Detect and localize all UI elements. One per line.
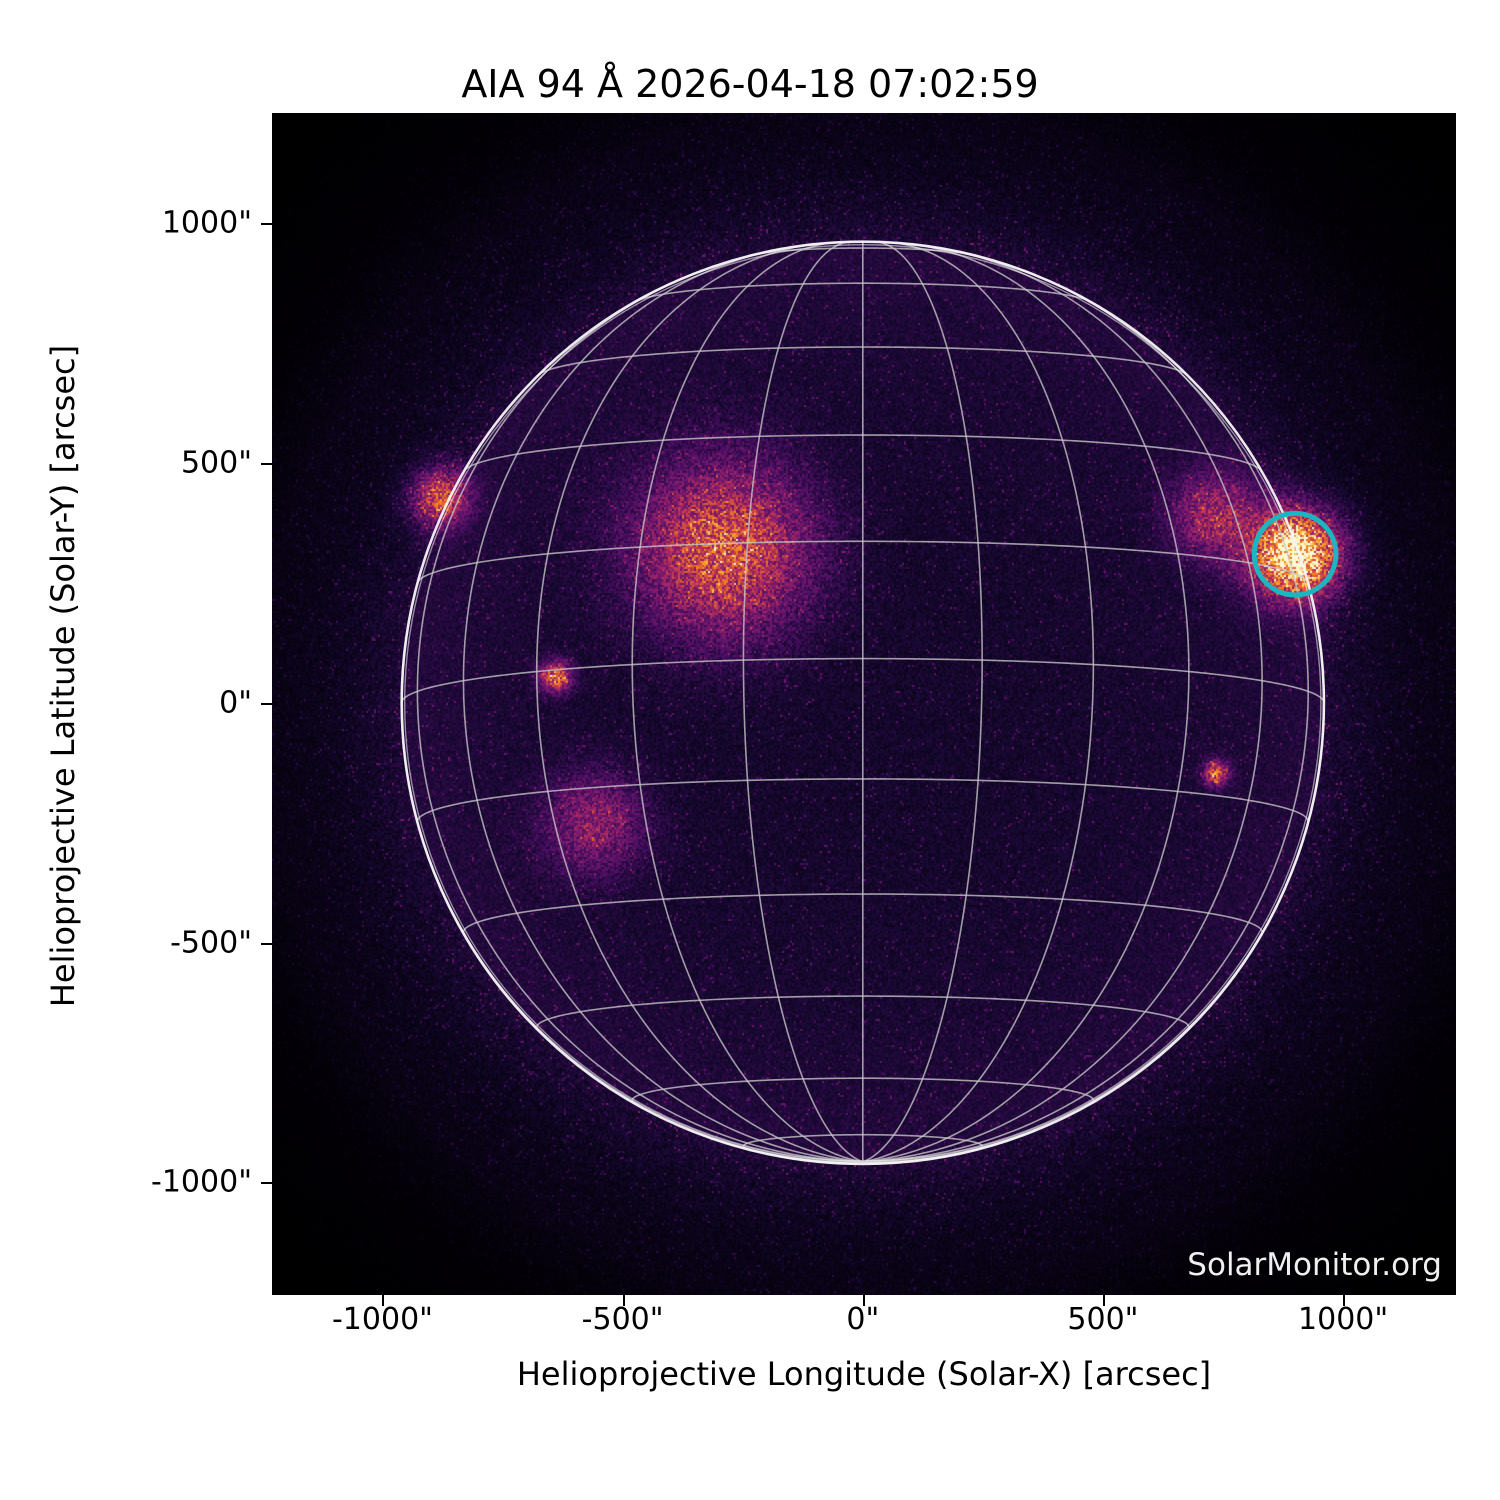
y-tick-label: 500"	[4, 446, 252, 481]
grid-meridian	[402, 631, 863, 1162]
grid-meridian	[863, 242, 1094, 1161]
grid-meridian	[863, 631, 1324, 1162]
grid-meridian	[537, 243, 863, 1161]
y-tick-mark	[261, 1182, 272, 1184]
y-tick-mark	[261, 943, 272, 945]
grid-meridian	[863, 247, 1262, 1162]
x-tick-mark	[863, 1295, 865, 1306]
x-axis-title: Helioprojective Longitude (Solar-X) [arc…	[272, 1355, 1456, 1393]
x-tick-mark	[623, 1295, 625, 1306]
grid-meridian	[863, 263, 1308, 1162]
y-tick-label: -500"	[4, 925, 252, 960]
x-tick-label: -500"	[582, 1302, 664, 1337]
x-tick-mark	[382, 1295, 384, 1306]
x-tick-mark	[1103, 1295, 1105, 1306]
y-tick-label: 1000"	[4, 206, 252, 241]
y-tick-mark	[261, 463, 272, 465]
grid-meridian	[863, 243, 1189, 1161]
x-axis-labels: -1000"-500"0"500"1000"	[0, 1302, 1500, 1362]
grid-meridian	[743, 242, 862, 1162]
x-tick-mark	[1343, 1295, 1345, 1306]
y-tick-label: 0"	[4, 685, 252, 720]
y-tick-label: -1000"	[4, 1165, 252, 1200]
grid-meridian	[417, 263, 862, 1162]
solar-image-figure: AIA 94 Å 2026-04-18 07:02:59 1000"500"0"…	[0, 0, 1500, 1500]
coordinate-grid-overlay	[272, 113, 1456, 1295]
y-axis-title: Helioprojective Latitude (Solar-Y) [arcs…	[44, 316, 82, 1036]
y-tick-mark	[261, 223, 272, 225]
y-axis-labels: 1000"500"0"-500"-1000"	[0, 0, 252, 1500]
x-tick-label: 500"	[1067, 1302, 1138, 1337]
x-tick-label: -1000"	[332, 1302, 433, 1337]
x-tick-label: 1000"	[1298, 1302, 1388, 1337]
solar-disk-image-panel[interactable]: SolarMonitor.org	[272, 113, 1456, 1295]
grid-meridian	[463, 247, 862, 1162]
grid-meridian	[863, 242, 982, 1162]
y-tick-mark	[261, 703, 272, 705]
grid-meridian	[632, 242, 863, 1161]
x-tick-label: 0"	[846, 1302, 879, 1337]
